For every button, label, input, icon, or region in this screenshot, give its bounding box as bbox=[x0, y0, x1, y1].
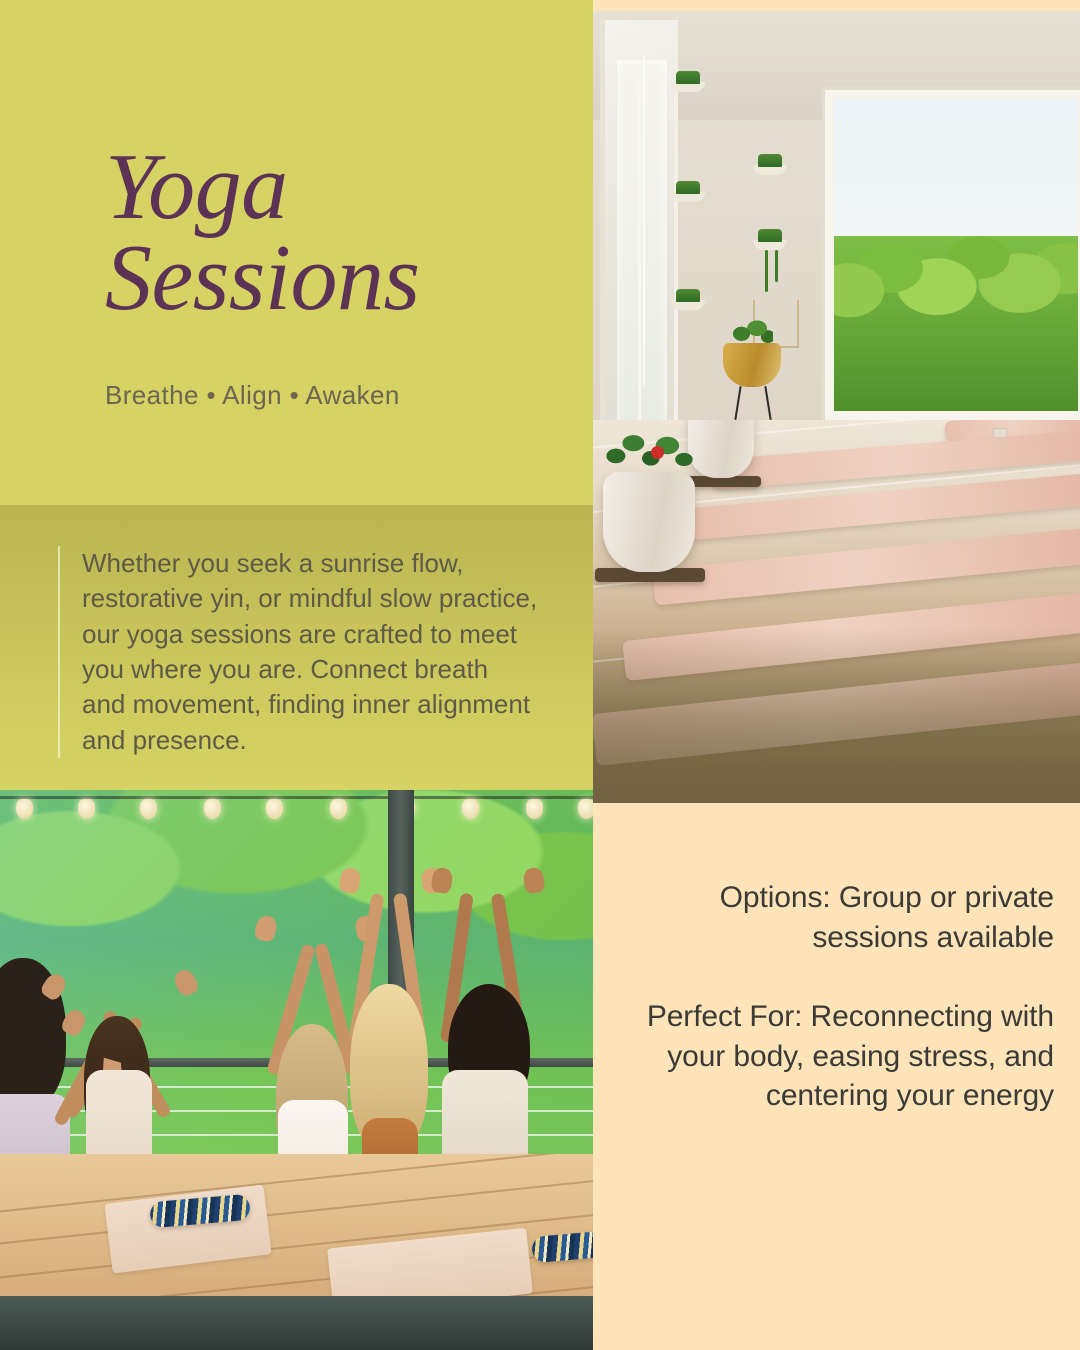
description-text: Whether you seek a sunrise flow, restora… bbox=[82, 546, 538, 758]
details-panel: Options: Group or private sessions avail… bbox=[593, 803, 1080, 1350]
ceramic-planter bbox=[603, 472, 695, 572]
wall-planter-shelf bbox=[671, 300, 705, 310]
plant-stand bbox=[733, 386, 773, 420]
deck-board-line bbox=[0, 1154, 593, 1218]
yoga-mat bbox=[652, 527, 1080, 606]
poster-tagline: Breathe • Align • Awaken bbox=[105, 380, 575, 411]
hand bbox=[338, 867, 361, 895]
hand bbox=[431, 867, 454, 894]
light-bulb bbox=[78, 799, 95, 819]
description-block: Whether you seek a sunrise flow, restora… bbox=[58, 546, 538, 758]
page-title: Yoga Sessions bbox=[105, 142, 575, 324]
gold-planter bbox=[723, 343, 781, 387]
poster-canvas: Yoga Sessions Breathe • Align • Awaken W… bbox=[0, 0, 1080, 1350]
plant-foliage bbox=[603, 420, 695, 478]
hand bbox=[522, 867, 545, 895]
ceramic-planter bbox=[688, 420, 754, 478]
floor-shadow-gradient bbox=[593, 628, 1080, 803]
light-bulb bbox=[330, 799, 347, 819]
trailing-vine bbox=[775, 250, 778, 282]
group-yoga-on-deck-photo bbox=[0, 790, 593, 1350]
hand bbox=[253, 914, 278, 943]
light-bulb bbox=[578, 799, 593, 819]
wall-planter-shelf bbox=[753, 165, 787, 175]
light-bulb bbox=[204, 799, 221, 819]
light-bulb bbox=[140, 799, 157, 819]
wall-outlet bbox=[993, 428, 1007, 438]
yoga-studio-interior-photo bbox=[593, 0, 1080, 803]
bolster-cushion bbox=[531, 1231, 593, 1263]
photo-top-strip bbox=[593, 0, 1080, 11]
light-bulb bbox=[16, 799, 33, 819]
deck-rail-foreground bbox=[0, 1296, 593, 1350]
trailing-vine bbox=[765, 250, 768, 292]
wall-planter-shelf bbox=[671, 82, 705, 92]
wall-planter-shelf bbox=[753, 240, 787, 250]
fairy-lights-strand bbox=[643, 55, 645, 385]
light-bulb bbox=[462, 799, 479, 819]
picture-window bbox=[825, 90, 1080, 420]
title-block: Yoga Sessions Breathe • Align • Awaken bbox=[105, 142, 575, 411]
red-flower bbox=[651, 446, 664, 459]
window-mullion bbox=[638, 60, 641, 470]
detail-perfect-for: Perfect For: Reconnecting with your body… bbox=[615, 997, 1054, 1116]
studio-wood-floor bbox=[593, 420, 1080, 803]
window-glass bbox=[617, 60, 667, 470]
light-bulb bbox=[266, 799, 283, 819]
tree-canopy bbox=[828, 236, 1080, 417]
detail-options: Options: Group or private sessions avail… bbox=[615, 878, 1054, 957]
wall-planter-shelf bbox=[671, 192, 705, 202]
light-bulb bbox=[526, 799, 543, 819]
